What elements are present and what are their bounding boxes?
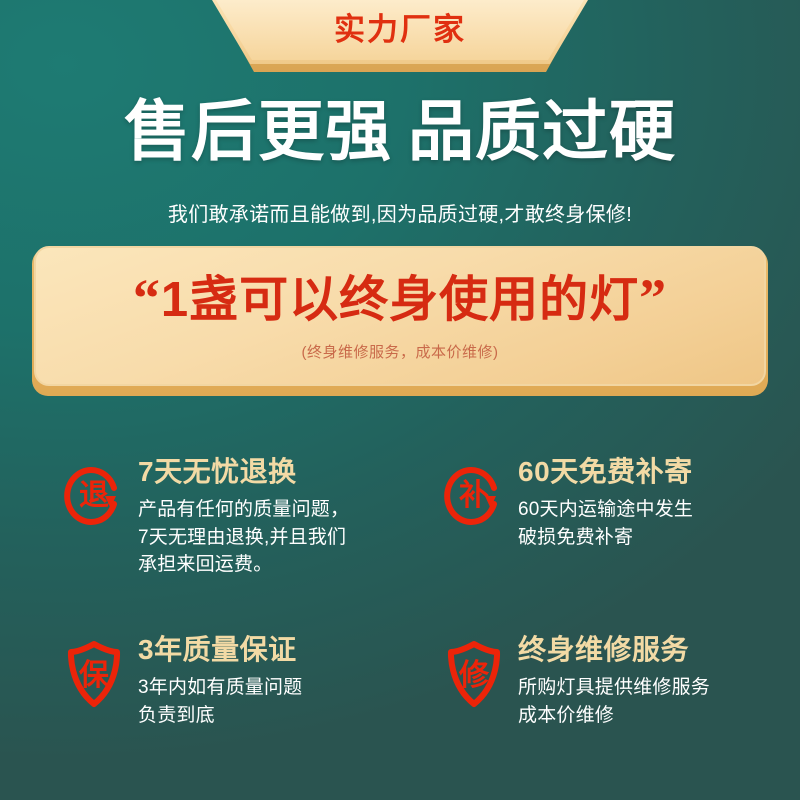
repair-icon-glyph: 修 — [438, 636, 510, 712]
feature-desc-return: 产品有任何的质量问题， 7天无理由退换,并且我们 承担来回运费。 — [138, 496, 418, 579]
feature-title-warranty: 3年质量保证 — [138, 634, 418, 666]
feature-item-repair: 修 终身维修服务 所购灯具提供维修服务 成本价维修 — [438, 630, 798, 729]
feature-body-warranty: 3年质量保证 3年内如有质量问题 负责到底 — [138, 630, 418, 729]
top-banner: 实力厂家 — [190, 0, 610, 72]
feature-body-reship: 60天免费补寄 60天内运输途中发生 破损免费补寄 — [518, 452, 798, 551]
return-circle-arrow-icon: 退 — [58, 458, 130, 534]
page-title: 售后更强品质过硬 — [0, 95, 800, 169]
reship-icon-glyph: 补 — [438, 458, 510, 534]
close-quote-mark: ” — [639, 268, 667, 328]
feature-desc-line: 7天无理由退换,并且我们 — [138, 524, 418, 552]
feature-item-warranty: 保 3年质量保证 3年内如有质量问题 负责到底 — [58, 630, 418, 729]
feature-body-repair: 终身维修服务 所购灯具提供维修服务 成本价维修 — [518, 630, 798, 729]
feature-desc-reship: 60天内运输途中发生 破损免费补寄 — [518, 496, 798, 551]
quote-body: 1盏可以终身使用的灯 — [161, 273, 639, 327]
promo-poster: 实力厂家 售后更强品质过硬 我们敢承诺而且能做到,因为品质过硬,才敢终身保修! … — [0, 0, 800, 800]
quote-caption: (终身维修服务，成本价维修) — [302, 341, 499, 362]
feature-desc-warranty: 3年内如有质量问题 负责到底 — [138, 674, 418, 729]
feature-desc-line: 负责到底 — [138, 702, 418, 730]
feature-item-reship: 补 60天免费补寄 60天内运输途中发生 破损免费补寄 — [438, 452, 798, 551]
feature-desc-line: 承担来回运费。 — [138, 551, 418, 579]
feature-title-return: 7天无忧退换 — [138, 456, 418, 488]
quote-text: “1盏可以终身使用的灯” — [133, 270, 667, 327]
repair-shield-icon: 修 — [438, 636, 510, 712]
headline-part-1: 售后更强 — [124, 94, 392, 168]
page-subtitle: 我们敢承诺而且能做到,因为品质过硬,才敢终身保修! — [0, 198, 800, 227]
quote-box: “1盏可以终身使用的灯” (终身维修服务，成本价维修) — [34, 246, 766, 386]
warranty-icon-glyph: 保 — [58, 636, 130, 712]
reship-circle-arrow-icon: 补 — [438, 458, 510, 534]
feature-desc-line: 成本价维修 — [518, 702, 798, 730]
headline-part-2: 品质过硬 — [408, 94, 676, 168]
open-quote-mark: “ — [133, 268, 161, 328]
feature-desc-line: 破损免费补寄 — [518, 524, 798, 552]
feature-body-return: 7天无忧退换 产品有任何的质量问题， 7天无理由退换,并且我们 承担来回运费。 — [138, 452, 418, 579]
banner-label: 实力厂家 — [190, 0, 610, 60]
warranty-shield-icon: 保 — [58, 636, 130, 712]
feature-desc-line: 3年内如有质量问题 — [138, 674, 418, 702]
return-icon-glyph: 退 — [58, 458, 130, 534]
feature-grid: 退 7天无忧退换 产品有任何的质量问题， 7天无理由退换,并且我们 承担来回运费… — [0, 448, 800, 788]
feature-item-return: 退 7天无忧退换 产品有任何的质量问题， 7天无理由退换,并且我们 承担来回运费… — [58, 452, 418, 579]
feature-desc-repair: 所购灯具提供维修服务 成本价维修 — [518, 674, 798, 729]
feature-title-repair: 终身维修服务 — [518, 634, 798, 666]
feature-desc-line: 60天内运输途中发生 — [518, 496, 798, 524]
feature-desc-line: 产品有任何的质量问题， — [138, 496, 418, 524]
feature-title-reship: 60天免费补寄 — [518, 456, 798, 488]
feature-desc-line: 所购灯具提供维修服务 — [518, 674, 798, 702]
